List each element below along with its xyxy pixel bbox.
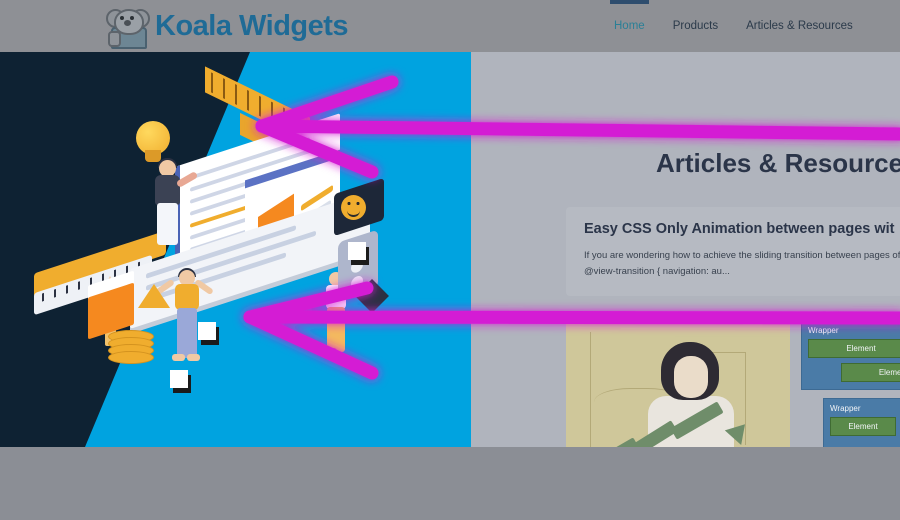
- nav-item-articles[interactable]: Articles & Resources: [732, 0, 867, 52]
- nav-item-products[interactable]: Products: [659, 0, 732, 52]
- article-excerpt-line1: If you are wondering how to achieve the …: [584, 248, 900, 264]
- koala-icon: [105, 5, 149, 47]
- article-excerpt: If you are wondering how to achieve the …: [584, 248, 900, 280]
- main-nav: Home Products Articles & Resources: [600, 0, 867, 52]
- viewport-dim-overlay: [0, 447, 900, 520]
- element-box: Element: [830, 417, 896, 436]
- article-excerpt-line2: @view-transition { navigation: au...: [584, 264, 900, 280]
- wrapper-label-2: Wrapper: [830, 404, 900, 413]
- wrapper-diagram: Wrapper Element Element Element Wrapper …: [801, 320, 900, 447]
- content-panel: Articles & Resources Easy CSS Only Anima…: [471, 52, 900, 447]
- hero-illustration: [0, 52, 471, 447]
- site-header: Koala Widgets Home Products Articles & R…: [0, 0, 900, 52]
- page-title: Articles & Resources: [656, 148, 900, 179]
- wrapper-box-1: Wrapper Element Element Element: [801, 320, 900, 390]
- wrapper-box-2: Wrapper Element Element: [823, 398, 900, 447]
- article-card[interactable]: Easy CSS Only Animation between pages wi…: [566, 207, 900, 296]
- brand-logo[interactable]: Koala Widgets: [105, 4, 348, 48]
- element-box: Element: [808, 339, 900, 358]
- article-thumbnail[interactable]: [566, 318, 790, 447]
- article-title[interactable]: Easy CSS Only Animation between pages wi…: [584, 221, 900, 237]
- brand-name: Koala Widgets: [155, 10, 348, 43]
- wrapper-label-1: Wrapper: [808, 326, 900, 335]
- element-box: Element: [841, 363, 900, 382]
- growth-arrow-icon: [586, 378, 746, 447]
- nav-item-home[interactable]: Home: [600, 0, 659, 52]
- hero-section: [0, 52, 471, 447]
- page-root: Koala Widgets Home Products Articles & R…: [0, 0, 900, 447]
